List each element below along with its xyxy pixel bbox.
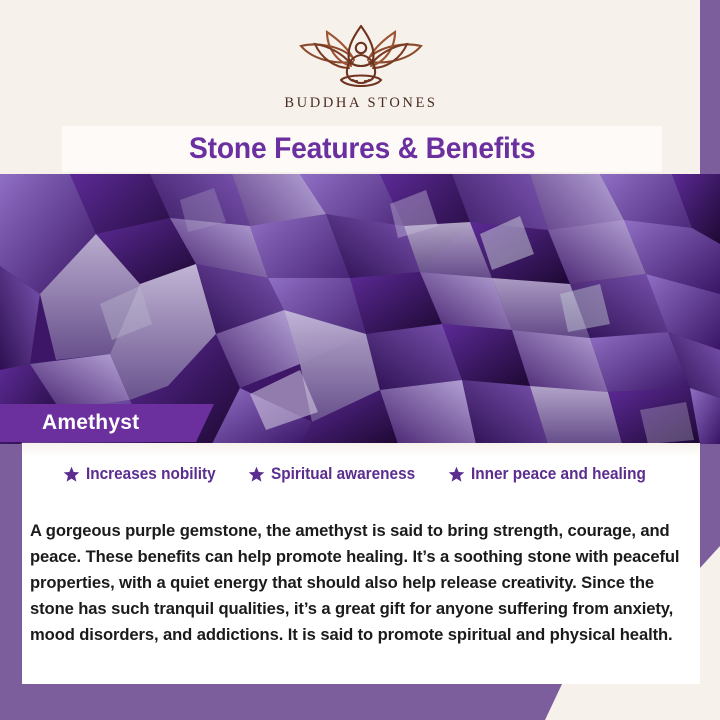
star-icon <box>63 466 80 483</box>
feature-item-spiritual-awareness: Spiritual awareness <box>248 465 426 484</box>
feature-label: Inner peace and healing <box>471 465 646 484</box>
content-panel: Increases nobility Spiritual awareness I… <box>22 443 700 684</box>
stone-name-label: Amethyst <box>0 404 214 442</box>
brand-name: BUDDHA STONES <box>284 95 437 112</box>
header: BUDDHA STONES Stone Features & Benefits <box>22 0 700 174</box>
feature-list: Increases nobility Spiritual awareness I… <box>22 465 700 484</box>
feature-label: Increases nobility <box>86 465 216 484</box>
feature-label: Spiritual awareness <box>271 465 415 484</box>
amethyst-crystal-cluster-photo <box>0 174 720 444</box>
feature-item-inner-peace-and-healing: Inner peace and healing <box>448 465 659 484</box>
brand-logo: BUDDHA STONES <box>22 22 700 112</box>
feature-item-increases-nobility: Increases nobility <box>63 465 225 484</box>
lotus-meditation-logo-icon <box>291 22 431 90</box>
stone-description: A gorgeous purple gemstone, the amethyst… <box>30 518 698 648</box>
star-icon <box>448 466 465 483</box>
star-icon <box>248 466 265 483</box>
stone-features-infographic: BUDDHA STONES Stone Features & Benefits <box>0 0 720 720</box>
title-banner: Stone Features & Benefits <box>62 126 662 172</box>
stone-name-text: Amethyst <box>42 411 139 435</box>
panel-top-fade <box>22 443 700 457</box>
page-title: Stone Features & Benefits <box>189 132 535 166</box>
